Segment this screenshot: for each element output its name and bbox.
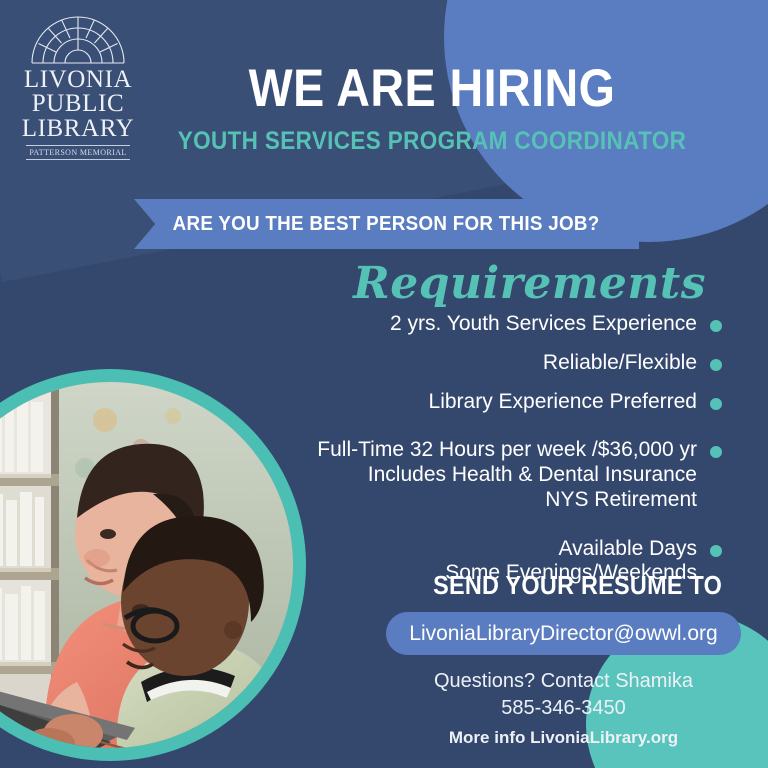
headline-block: WE ARE HIRING YOUTH SERVICES PROGRAM COO…	[0, 62, 768, 156]
bullet-dot-icon	[710, 359, 722, 371]
page-title: WE ARE HIRING	[136, 62, 727, 116]
logo-divider-bottom	[26, 159, 130, 160]
contact-questions: Questions? Contact Shamika	[386, 668, 741, 695]
bullet-dot-icon	[710, 446, 722, 458]
contact-block: Questions? Contact Shamika 585-346-3450 …	[386, 668, 741, 748]
requirement-text: 2 yrs. Youth Services Experience	[390, 312, 697, 335]
bullet-dot-icon	[710, 320, 722, 332]
requirements-list: 2 yrs. Youth Services Experience Reliabl…	[252, 312, 722, 600]
requirement-item: Library Experience Preferred	[252, 390, 722, 415]
requirement-item: Reliable/Flexible	[252, 351, 722, 376]
requirement-text: Reliable/Flexible	[543, 351, 697, 374]
library-arch-window-icon	[30, 14, 126, 64]
requirement-text: Available Days	[558, 537, 697, 560]
requirements-heading: Requirements	[353, 258, 706, 309]
send-resume-heading: SEND YOUR RESUME TO	[433, 570, 722, 601]
requirement-text: Library Experience Preferred	[429, 390, 697, 413]
requirement-item: Full-Time 32 Hours per week /$36,000 yr …	[252, 438, 722, 512]
requirement-item: 2 yrs. Youth Services Experience	[252, 312, 722, 337]
question-ribbon-text: ARE YOU THE BEST PERSON FOR THIS JOB?	[173, 213, 600, 236]
position-title: YOUTH SERVICES PROGRAM COORDINATOR	[130, 127, 735, 156]
bullet-dot-icon	[710, 545, 722, 557]
email-address-button[interactable]: LivoniaLibraryDirector@owwl.org	[386, 612, 741, 655]
photo-illustration	[0, 382, 293, 748]
requirement-text: Full-Time 32 Hours per week /$36,000 yr	[317, 438, 697, 461]
email-address-text: LivoniaLibraryDirector@owwl.org	[409, 622, 717, 646]
question-ribbon-banner: ARE YOU THE BEST PERSON FOR THIS JOB?	[134, 199, 639, 249]
bullet-dot-icon	[710, 398, 722, 410]
contact-website: More info LivoniaLibrary.org	[386, 728, 741, 748]
librarian-child-photo	[0, 382, 293, 748]
requirement-subtext: Includes Health & Dental Insurance	[317, 463, 697, 488]
hiring-flyer: LIVONIA PUBLIC LIBRARY PATTERSON MEMORIA…	[0, 0, 768, 768]
requirement-subtext: NYS Retirement	[317, 488, 697, 513]
contact-phone: 585-346-3450	[386, 695, 741, 722]
